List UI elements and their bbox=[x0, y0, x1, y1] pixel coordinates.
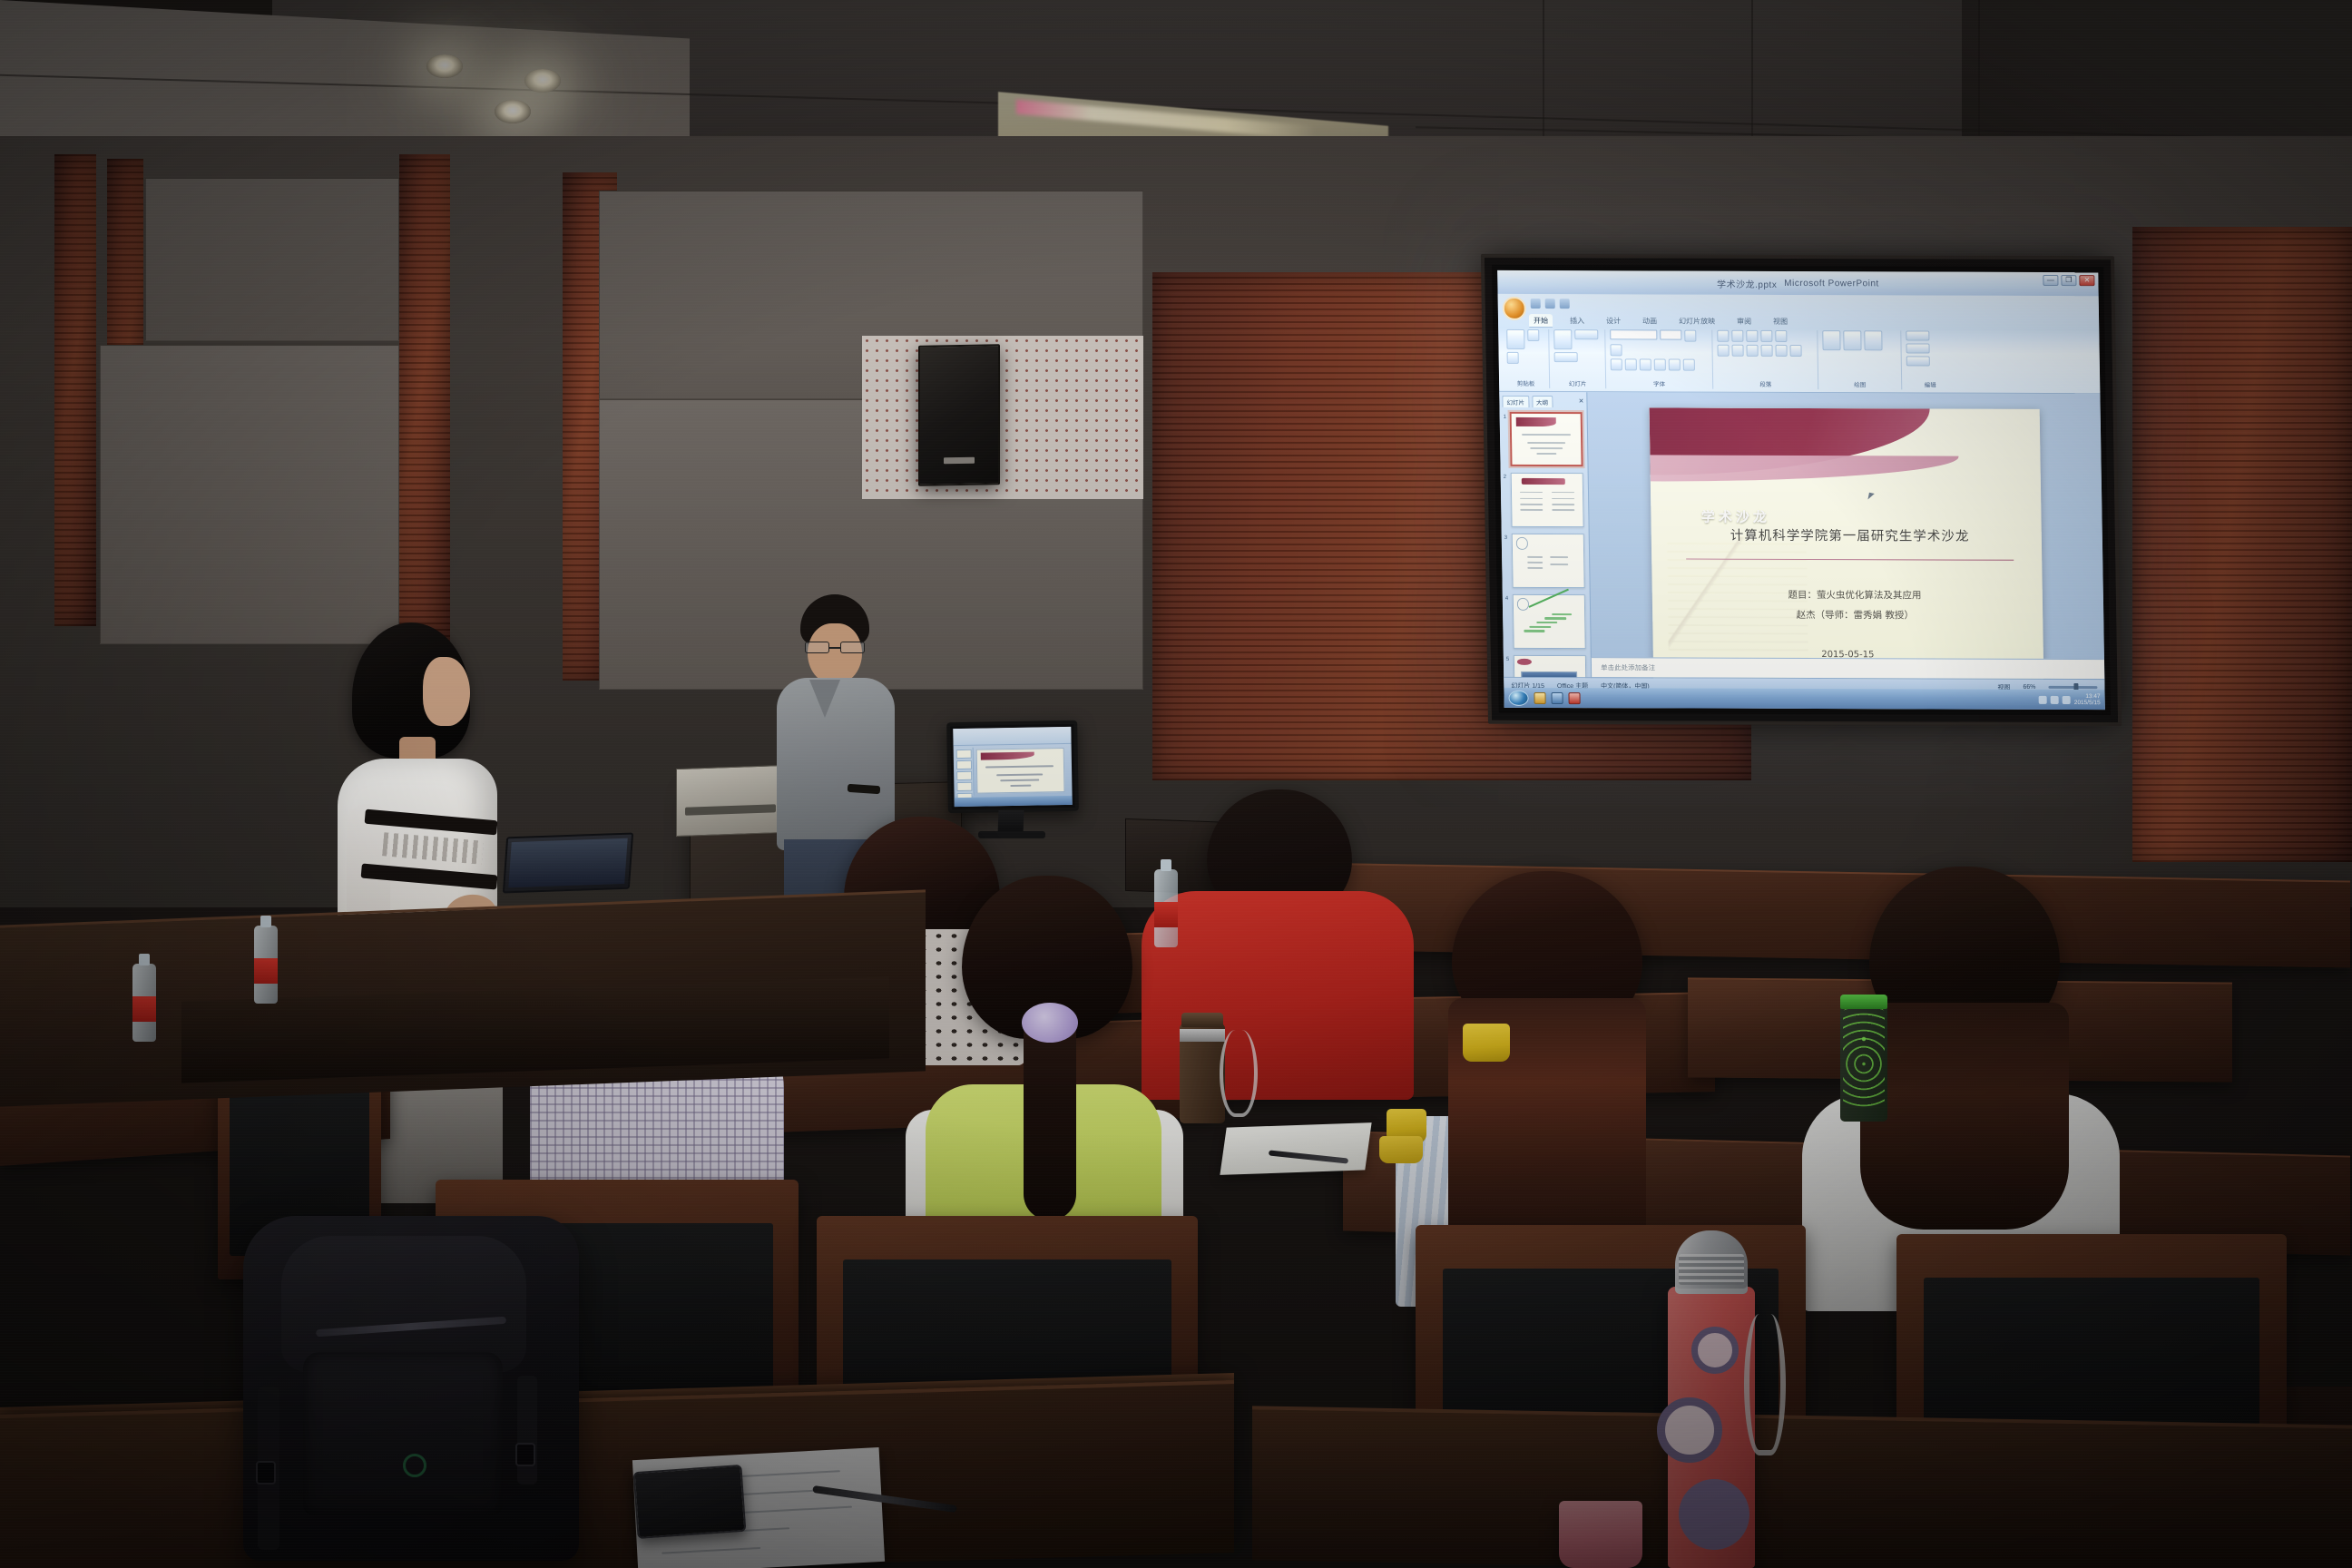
decrease-indent-icon[interactable] bbox=[1746, 330, 1758, 342]
minimize-button[interactable]: — bbox=[2043, 275, 2058, 286]
maximize-button[interactable]: ❐ bbox=[2061, 275, 2076, 286]
host-face bbox=[808, 623, 862, 683]
undo-icon[interactable] bbox=[1545, 299, 1555, 309]
group-label-editing: 编辑 bbox=[1902, 379, 1958, 388]
travel-mug-strap bbox=[1220, 1030, 1258, 1117]
ribbon-tab-design[interactable]: 设计 bbox=[1602, 314, 1625, 328]
select-icon[interactable] bbox=[1906, 356, 1930, 366]
tab-outline[interactable]: 大纲 bbox=[1532, 395, 1553, 407]
monitor-screen bbox=[953, 727, 1072, 807]
audience-white-shirt bbox=[1869, 867, 2060, 1039]
host-glasses-icon bbox=[805, 642, 865, 653]
ribbon-tab-slideshow[interactable]: 幻灯片放映 bbox=[1674, 315, 1720, 328]
acoustic-perforated-panel bbox=[862, 336, 1143, 499]
ribbon-tab-view[interactable]: 视图 bbox=[1769, 315, 1792, 328]
pink-thermos-circle-2 bbox=[1657, 1397, 1722, 1463]
group-label-drawing: 绘图 bbox=[1818, 379, 1901, 388]
ceiling-spotlight-2 bbox=[524, 69, 561, 93]
backpack-logo-icon bbox=[403, 1454, 426, 1477]
columns-icon[interactable] bbox=[1775, 345, 1787, 357]
font-color-icon[interactable] bbox=[1683, 359, 1695, 371]
wall-wood-slat-3 bbox=[399, 154, 450, 662]
group-label-slides: 幻灯片 bbox=[1550, 378, 1605, 387]
ribbon-tab-animations[interactable]: 动画 bbox=[1638, 314, 1661, 328]
backpack-buckle-left bbox=[256, 1461, 276, 1485]
wall-panel-4 bbox=[145, 178, 399, 341]
pink-thermos-circle-3 bbox=[1679, 1479, 1749, 1550]
ribbon-tab-insert[interactable]: 插入 bbox=[1565, 314, 1589, 328]
group-label-paragraph: 段落 bbox=[1713, 379, 1818, 388]
shadow-icon[interactable] bbox=[1669, 359, 1681, 371]
window-controls[interactable]: — ❐ ✕ bbox=[2043, 275, 2094, 286]
travel-mug-cap bbox=[1181, 1013, 1223, 1027]
quick-styles-icon[interactable] bbox=[1864, 330, 1882, 350]
save-icon[interactable] bbox=[1531, 299, 1541, 309]
pink-thermos bbox=[1668, 1287, 1755, 1568]
thumb-number-1: 1 bbox=[1504, 415, 1506, 420]
text-direction-icon[interactable] bbox=[1789, 345, 1801, 357]
backpack-buckle-right bbox=[515, 1443, 535, 1466]
ribbon-group-drawing[interactable]: 绘图 bbox=[1818, 330, 1902, 389]
black-backpack bbox=[243, 1216, 579, 1561]
paste-icon[interactable] bbox=[1506, 329, 1524, 349]
taskbar-icon-1[interactable] bbox=[1534, 691, 1545, 703]
slide-topic-line: 题目：萤火虫优化算法及其应用 bbox=[1690, 586, 2019, 607]
zoom-slider[interactable] bbox=[2048, 686, 2097, 689]
thumbnail-slide-1[interactable]: 1 bbox=[1510, 412, 1583, 466]
reset-icon[interactable] bbox=[1554, 352, 1578, 362]
taskbar-icon-2[interactable] bbox=[1551, 691, 1563, 703]
notes-placeholder-text: 单击此处添加备注 bbox=[1601, 662, 1655, 672]
ceiling-spotlight-3 bbox=[495, 100, 531, 123]
clock-date: 2015/5/15 bbox=[2074, 700, 2101, 707]
water-bottle-1 bbox=[132, 964, 156, 1042]
close-button[interactable]: ✕ bbox=[2079, 275, 2094, 286]
slide-subtitle-block: 题目：萤火虫优化算法及其应用 赵杰（导师：雷秀娟 教授） bbox=[1690, 586, 2019, 626]
notes-pane[interactable]: 单击此处添加备注 bbox=[1592, 657, 2104, 679]
thumbnail-slide-2[interactable]: 2 bbox=[1511, 473, 1584, 527]
italic-icon[interactable] bbox=[1625, 358, 1637, 370]
shrink-font-icon[interactable] bbox=[1610, 344, 1622, 356]
redo-icon[interactable] bbox=[1560, 299, 1570, 309]
numbering-icon[interactable] bbox=[1731, 330, 1743, 342]
pink-thermos-circle-1 bbox=[1691, 1327, 1739, 1374]
start-button-icon[interactable] bbox=[1508, 690, 1528, 705]
wall-speaker bbox=[918, 344, 1000, 486]
tab-slides[interactable]: 幻灯片 bbox=[1502, 395, 1529, 407]
ppt-title-bar: 学术沙龙.pptx Microsoft PowerPoint — ❐ ✕ bbox=[1497, 270, 2099, 296]
green-water-bottle bbox=[1840, 1005, 1887, 1122]
clock-time: 13:47 bbox=[2085, 693, 2100, 701]
cut-icon[interactable] bbox=[1527, 329, 1539, 341]
thumbnail-slide-3[interactable]: 3 bbox=[1512, 534, 1585, 588]
copy-icon[interactable] bbox=[1507, 352, 1519, 364]
white-shirt-woman-hair-fall bbox=[1860, 1003, 2069, 1230]
taskbar-clock[interactable]: 13:47 2015/5/15 bbox=[2074, 693, 2101, 707]
thumb-number-3: 3 bbox=[1504, 535, 1507, 541]
purple-scrunchie bbox=[1022, 1003, 1078, 1043]
ribbon-group-font[interactable]: 字体 bbox=[1605, 329, 1713, 388]
audience-long-hair bbox=[1452, 871, 1642, 1034]
yellow-cup-1 bbox=[1463, 1024, 1510, 1062]
green-vest-ponytail bbox=[1024, 1012, 1076, 1220]
thumb-number-5: 5 bbox=[1506, 657, 1509, 662]
ceiling-spotlight-1 bbox=[426, 54, 463, 78]
find-icon[interactable] bbox=[1906, 330, 1929, 340]
thumbnail-slide-4[interactable]: 4 bbox=[1513, 594, 1586, 649]
bold-icon[interactable] bbox=[1611, 358, 1622, 370]
presenter-face bbox=[423, 657, 470, 726]
office-orb-icon[interactable] bbox=[1503, 297, 1526, 320]
layout-icon[interactable] bbox=[1574, 329, 1598, 339]
bottle-label-1 bbox=[132, 996, 156, 1022]
ribbon-group-paragraph[interactable]: 段落 bbox=[1712, 330, 1818, 389]
quick-access-toolbar[interactable] bbox=[1531, 299, 1570, 309]
open-notebook bbox=[1220, 1122, 1371, 1175]
grow-font-icon[interactable] bbox=[1684, 330, 1696, 342]
lecture-hall-photo: 学术沙龙.pptx Microsoft PowerPoint — ❐ ✕ 开始 bbox=[0, 0, 2352, 1568]
ribbon-tab-review[interactable]: 审阅 bbox=[1732, 315, 1756, 328]
ribbon-group-clipboard[interactable]: 剪贴板 bbox=[1502, 329, 1550, 388]
slide-banner-text: 学术沙龙 bbox=[1701, 507, 1770, 526]
right-desk-row bbox=[1252, 1406, 2352, 1568]
thumb-number-2: 2 bbox=[1504, 475, 1506, 480]
pink-thermos-cap bbox=[1675, 1230, 1748, 1294]
water-bottle-2 bbox=[254, 926, 278, 1004]
dark-travel-mug bbox=[1180, 1024, 1225, 1123]
slide-banner bbox=[1649, 407, 1931, 475]
underline-icon[interactable] bbox=[1640, 358, 1651, 370]
bench-row-back-1 bbox=[1252, 861, 2350, 967]
slide-thumbnail-pane[interactable]: 幻灯片 大纲 ✕ 1 2 bbox=[1499, 392, 1592, 708]
wall-wood-panel-far-right bbox=[2132, 227, 2352, 862]
bottle-label-3 bbox=[1154, 902, 1178, 927]
mouse-cursor-icon bbox=[1868, 493, 1875, 501]
bottle-label-2 bbox=[254, 958, 278, 984]
tray-network-icon[interactable] bbox=[2039, 695, 2047, 703]
wall-wood-slat-1 bbox=[54, 154, 96, 626]
thumb-banner-1 bbox=[1515, 417, 1555, 426]
strikethrough-icon[interactable] bbox=[1654, 358, 1666, 370]
podium-monitor bbox=[946, 720, 1079, 813]
justify-icon[interactable] bbox=[1760, 345, 1772, 357]
thumb-number-4: 4 bbox=[1505, 596, 1508, 602]
line-spacing-icon[interactable] bbox=[1775, 330, 1787, 342]
align-center-icon[interactable] bbox=[1731, 345, 1743, 357]
slide-title-text: 计算机科学学院第一届研究生学术沙龙 bbox=[1678, 524, 2022, 544]
ribbon-group-editing[interactable]: 编辑 bbox=[1901, 330, 1958, 389]
bullets-icon[interactable] bbox=[1717, 330, 1729, 342]
pink-thermos-strap bbox=[1744, 1314, 1786, 1455]
font-name-field[interactable] bbox=[1610, 329, 1657, 339]
shapes-icon[interactable] bbox=[1822, 330, 1840, 350]
replace-icon[interactable] bbox=[1906, 343, 1929, 353]
smartphone bbox=[633, 1465, 747, 1539]
projection-screen: 学术沙龙.pptx Microsoft PowerPoint — ❐ ✕ 开始 bbox=[1485, 258, 2118, 722]
monitor-thumbnail-pane bbox=[955, 747, 974, 796]
speaker-brand-badge bbox=[944, 457, 975, 465]
yellow-cup-3 bbox=[1379, 1136, 1423, 1163]
font-size-field[interactable] bbox=[1660, 329, 1681, 339]
taskbar-icon-powerpoint[interactable] bbox=[1568, 692, 1580, 704]
audience-green-vest bbox=[962, 876, 1132, 1039]
monitor-slide-banner bbox=[980, 751, 1034, 759]
increase-indent-icon[interactable] bbox=[1760, 330, 1772, 342]
ribbon-group-slides[interactable]: 幻灯片 bbox=[1549, 329, 1606, 388]
align-left-icon[interactable] bbox=[1717, 345, 1729, 357]
arrange-icon[interactable] bbox=[1843, 330, 1861, 350]
green-bottle-cap bbox=[1840, 995, 1887, 1009]
group-label-font: 字体 bbox=[1606, 378, 1712, 387]
group-label-clipboard: 剪贴板 bbox=[1503, 378, 1549, 387]
system-tray[interactable]: 13:47 2015/5/15 bbox=[2039, 692, 2101, 706]
water-bottle-3 bbox=[1154, 869, 1178, 947]
travel-mug-band bbox=[1180, 1029, 1225, 1042]
close-pane-icon[interactable]: ✕ bbox=[1578, 397, 1583, 405]
ribbon-tab-home[interactable]: 开始 bbox=[1529, 314, 1553, 328]
tray-ime-icon[interactable] bbox=[2063, 695, 2071, 703]
backpack-strap-right bbox=[517, 1376, 537, 1485]
ribbon-content[interactable]: 剪贴板 幻灯片 字体 段落 bbox=[1498, 327, 2100, 393]
align-right-icon[interactable] bbox=[1746, 345, 1758, 357]
ppt-application-title: Microsoft PowerPoint bbox=[1784, 278, 1879, 288]
windows-taskbar[interactable]: 13:47 2015/5/15 bbox=[1504, 688, 2104, 710]
powerpoint-window[interactable]: 学术沙龙.pptx Microsoft PowerPoint — ❐ ✕ 开始 bbox=[1497, 270, 2105, 710]
audience-red-shirt bbox=[1207, 789, 1352, 916]
backpack-front-pocket bbox=[303, 1352, 503, 1515]
new-slide-icon[interactable] bbox=[1553, 329, 1572, 349]
tray-volume-icon[interactable] bbox=[2051, 695, 2059, 703]
ppt-document-title: 学术沙龙.pptx bbox=[1717, 276, 1777, 289]
thumbnail-pane-tabs[interactable]: 幻灯片 大纲 ✕ bbox=[1502, 394, 1583, 408]
monitor-taskbar bbox=[955, 796, 1073, 808]
wall-panel-1 bbox=[100, 345, 399, 644]
ppt-ribbon[interactable]: 开始 插入 设计 动画 幻灯片放映 审阅 视图 剪贴板 幻灯片 bbox=[1498, 294, 2101, 394]
pink-cup bbox=[1559, 1501, 1642, 1568]
monitor-ribbon bbox=[953, 727, 1071, 746]
monitor-slide bbox=[975, 748, 1064, 794]
slide-presenter-line: 赵杰（导师：雷秀娟 教授） bbox=[1690, 606, 2019, 627]
